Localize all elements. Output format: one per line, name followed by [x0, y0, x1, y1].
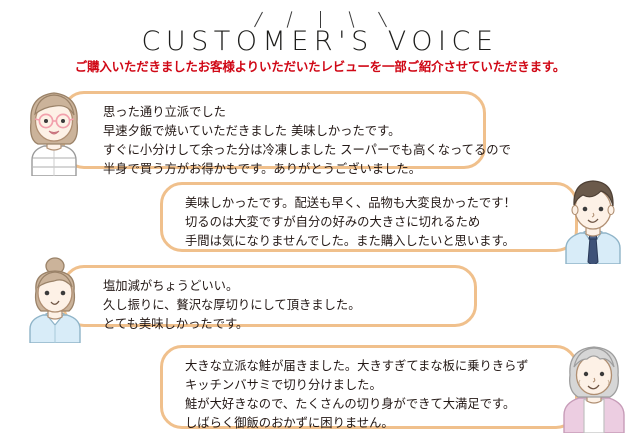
- speech-bubble: 思った通り立派でした 早速夕飯で焼いていただきました 美味しかったです。 すぐに…: [62, 91, 486, 169]
- review-line: 塩加減がちょうどいい。: [103, 277, 361, 296]
- review-line: 手間は気になりませんでした。また購入したいと思います。: [185, 232, 516, 251]
- speech-bubble: 塩加減がちょうどいい。 久し振りに、贅沢な厚切りにして頂きました。 とても美味し…: [62, 265, 477, 327]
- review-item: 思った通り立派でした 早速夕飯で焼いていただきました 美味しかったです。 すぐに…: [0, 82, 640, 177]
- review-line: 切るのは大変ですが自分の好みの大きさに切れるため: [185, 213, 516, 232]
- review-line: 思った通り立派でした: [103, 103, 511, 122]
- review-item: 大きな立派な鮭が届きました。大きすぎてまな板に乗りきらず キッチンバサミで切り分…: [0, 337, 640, 437]
- review-item: 塩加減がちょうどいい。 久し振りに、贅沢な厚切りにして頂きました。 とても美味し…: [0, 257, 640, 342]
- reviews-list: 思った通り立派でした 早速夕飯で焼いていただきました 美味しかったです。 すぐに…: [0, 82, 640, 448]
- speech-bubble: 美味しかったです。配送も早く、品物も大変良かったです！ 切るのは大変ですが自分の…: [160, 182, 578, 252]
- avatar-woman-glasses: [18, 84, 90, 176]
- tick-mark-icon: [286, 11, 292, 28]
- review-text: 美味しかったです。配送も早く、品物も大変良かったです！ 切るのは大変ですが自分の…: [185, 194, 516, 251]
- review-text: 塩加減がちょうどいい。 久し振りに、贅沢な厚切りにして頂きました。 とても美味し…: [103, 277, 361, 334]
- review-line: しばらく御飯のおかずに困りません。: [185, 414, 528, 433]
- page-title: CUSTOMER'S VOICE: [0, 27, 640, 57]
- review-line: 久し振りに、贅沢な厚切りにして頂きました。: [103, 296, 361, 315]
- review-item: 美味しかったです。配送も早く、品物も大変良かったです！ 切るのは大変ですが自分の…: [0, 174, 640, 264]
- page-subtitle: ご購入いただきましたお客様よりいただいたレビューを一部ご紹介させていただきます。: [0, 59, 640, 75]
- page-header: CUSTOMER'S VOICE ご購入いただきましたお客様よりいただいたレビュ…: [0, 0, 640, 82]
- review-line: 美味しかったです。配送も早く、品物も大変良かったです！: [185, 194, 516, 213]
- tick-mark-icon: [320, 11, 321, 28]
- tick-mark-icon: [254, 11, 263, 26]
- tick-mark-icon: [348, 11, 354, 28]
- review-line: とても美味しかったです。: [103, 315, 361, 334]
- review-line: 鮭が大好きなので、たくさんの切り身ができて大満足です。: [185, 395, 528, 414]
- review-line: キッチンバサミで切り分けました。: [185, 376, 528, 395]
- review-line: すぐに小分けして余った分は冷凍しました スーパーでも高くなってるので: [103, 141, 511, 160]
- review-text: 大きな立派な鮭が届きました。大きすぎてまな板に乗りきらず キッチンバサミで切り分…: [185, 357, 528, 433]
- avatar-woman-bun: [20, 255, 90, 343]
- review-text: 思った通り立派でした 早速夕飯で焼いていただきました 美味しかったです。 すぐに…: [103, 103, 511, 179]
- tick-mark-icon: [378, 11, 387, 26]
- review-line: 半身で買う方がお得かもです。ありがとうございました。: [103, 160, 511, 179]
- review-line: 早速夕飯で焼いていただきました 美味しかったです。: [103, 122, 511, 141]
- review-line: 大きな立派な鮭が届きました。大きすぎてまな板に乗りきらず: [185, 357, 528, 376]
- speech-bubble: 大きな立派な鮭が届きました。大きすぎてまな板に乗りきらず キッチンバサミで切り分…: [160, 345, 578, 429]
- avatar-man-necktie: [556, 174, 630, 264]
- avatar-elderly-woman: [556, 335, 632, 433]
